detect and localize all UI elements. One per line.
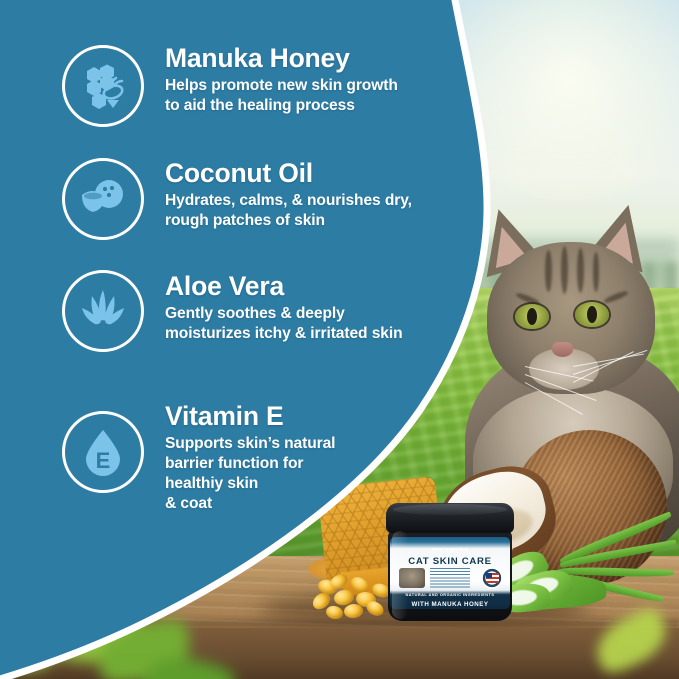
- aloe-plant-icon: [62, 270, 144, 352]
- ingredient-text-coconut-oil: Coconut Oil Hydrates, calms, & nourishes…: [165, 158, 412, 231]
- ingredient-item-aloe-vera: Aloe Vera Gently soothes & deeply moistu…: [62, 270, 403, 352]
- ingredient-text-manuka-honey: Manuka Honey Helps promote new skin grow…: [165, 45, 398, 116]
- ingredient-text-vitamin-e: Vitamin E Supports skin’s natural barrie…: [165, 403, 335, 514]
- ingredient-list: Manuka Honey Helps promote new skin grow…: [0, 0, 460, 679]
- ingredient-description: Hydrates, calms, & nourishes dry, rough …: [165, 191, 412, 231]
- honeycomb-bee-icon: [62, 45, 144, 127]
- ingredient-description: Helps promote new skin growth to aid the…: [165, 76, 398, 116]
- ingredient-description: Gently soothes & deeply moisturizes itch…: [165, 304, 403, 344]
- ingredient-description: Supports skin’s natural barrier function…: [165, 434, 335, 514]
- infographic-canvas: resq organics CAT SKIN CARE NATURAL AND …: [0, 0, 679, 679]
- ingredient-text-aloe-vera: Aloe Vera Gently soothes & deeply moistu…: [165, 270, 403, 344]
- ingredient-item-coconut-oil: Coconut Oil Hydrates, calms, & nourishes…: [62, 158, 412, 240]
- ingredient-item-vitamin-e: E Vitamin E Supports skin’s natural barr…: [62, 403, 335, 514]
- ingredient-item-manuka-honey: Manuka Honey Helps promote new skin grow…: [62, 45, 398, 127]
- droplet-letter: E: [96, 448, 111, 473]
- ingredient-title: Aloe Vera: [165, 273, 403, 301]
- ingredient-title: Coconut Oil: [165, 160, 412, 188]
- ingredient-title: Manuka Honey: [165, 45, 398, 73]
- ingredient-title: Vitamin E: [165, 403, 335, 431]
- coconut-icon: [62, 158, 144, 240]
- vitamin-e-droplet-icon: E: [62, 411, 144, 493]
